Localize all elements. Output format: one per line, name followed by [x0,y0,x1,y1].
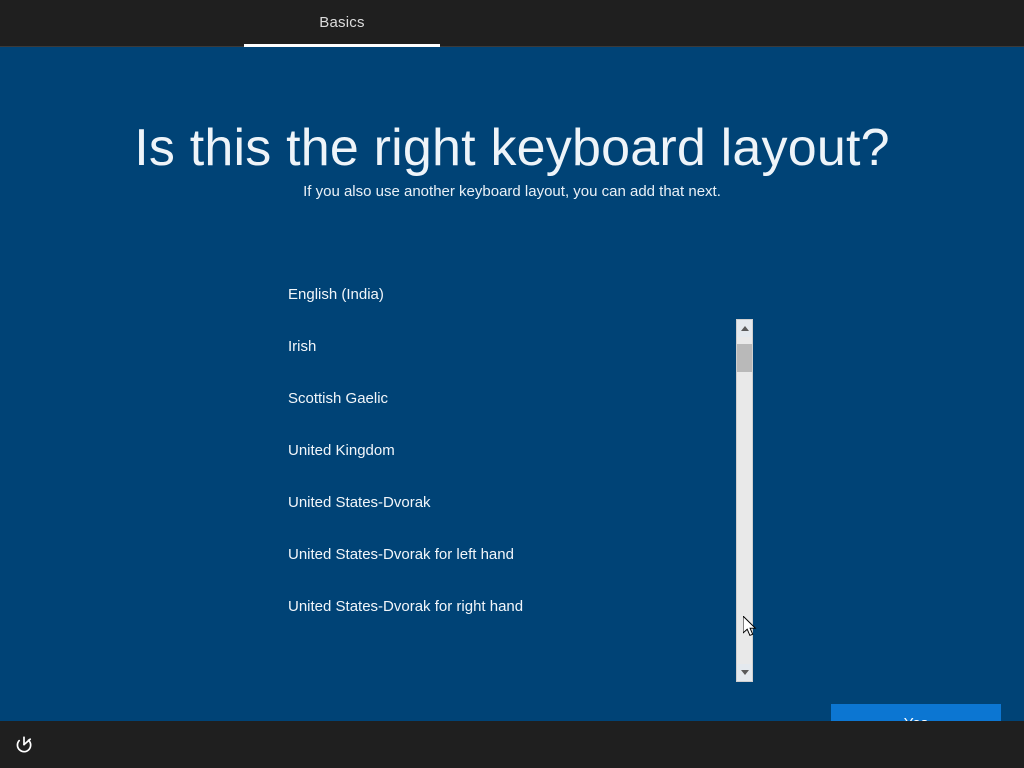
page-title: Is this the right keyboard layout? [0,119,1024,177]
scroll-up-button[interactable] [737,320,752,337]
chevron-up-icon [741,326,749,331]
tab-basics-label: Basics [319,14,364,31]
list-item-label: United States-Dvorak for left hand [288,546,514,563]
list-item[interactable]: English (India) [272,269,736,321]
oobe-screen: Basics Is this the right keyboard layout… [0,0,1024,768]
tab-basics[interactable]: Basics [244,0,440,47]
list-item-label: United Kingdom [288,442,395,459]
list-item-label: Scottish Gaelic [288,390,388,407]
scroll-down-button[interactable] [737,664,752,681]
header-bar: Basics [0,0,1024,47]
scrollbar-track[interactable] [737,372,752,664]
list-scrollbar[interactable] [736,319,753,682]
list-item-label: United States-Dvorak [288,494,431,511]
list-item-label: Irish [288,338,316,355]
list-item[interactable]: United Kingdom [272,425,736,477]
keyboard-layout-list[interactable]: English (India) Irish Scottish Gaelic Un… [272,269,736,636]
list-item[interactable]: Irish [272,321,736,373]
list-item-label: English (India) [288,286,384,303]
scrollbar-thumb[interactable] [737,344,752,372]
list-item[interactable]: Scottish Gaelic [272,373,736,425]
list-item[interactable]: United States-Dvorak [272,477,736,529]
list-item[interactable]: United States-Dvorak for right hand [272,581,736,633]
power-icon [13,734,35,756]
main-content: Is this the right keyboard layout? If yo… [0,47,1024,721]
list-item[interactable]: United States-Dvorak for left hand [272,529,736,581]
page-subtitle: If you also use another keyboard layout,… [0,182,1024,202]
chevron-down-icon [741,670,749,675]
power-button[interactable] [12,733,36,757]
list-item-label: United States-Dvorak for right hand [288,598,523,615]
footer-bar [0,721,1024,768]
